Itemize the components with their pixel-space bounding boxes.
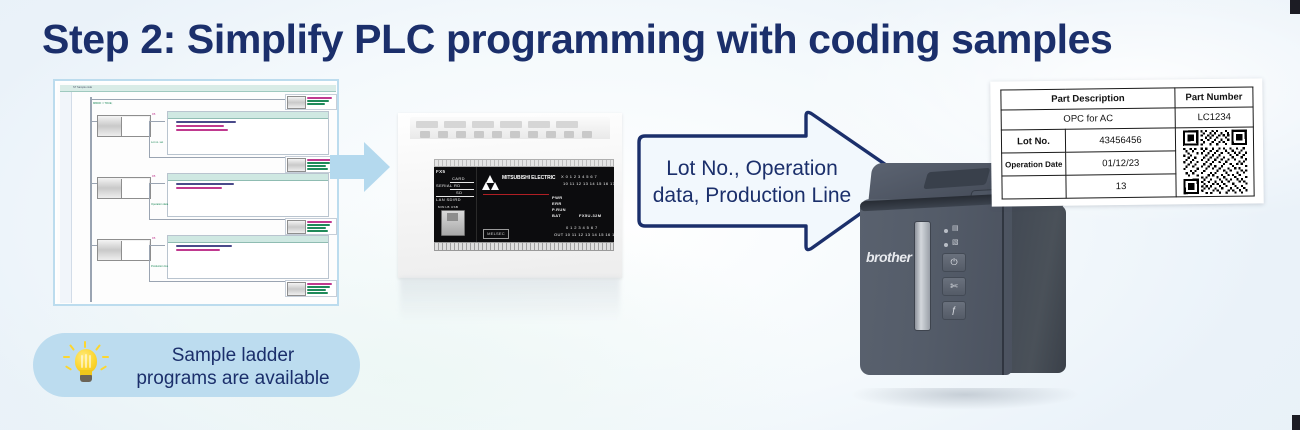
ladder-wire — [149, 183, 165, 184]
label-table: Part Description Part Number OPC for AC … — [1000, 86, 1254, 199]
ladder-function-block — [97, 177, 151, 199]
lot-no-value: 43456456 — [1065, 128, 1175, 152]
plc-vent-slot — [474, 131, 484, 138]
ladder-comment-label: Operation data — [151, 203, 168, 206]
plc-front-face: FX5 CARD SERIAL RD SD LAN SD/RD MINI-B U… — [434, 167, 614, 242]
status-indicator-led — [944, 243, 948, 247]
tape-indicator-icon: ▤ — [952, 225, 959, 233]
plc-led-pwr: PWR — [552, 195, 563, 200]
cut-button[interactable]: ✄ — [942, 277, 966, 296]
ladder-toolbar-strip — [60, 85, 336, 92]
corner-artifact-top-right — [1290, 0, 1300, 14]
plc-top-terminal-block — [434, 159, 614, 167]
ladder-wire — [149, 281, 285, 282]
plc-vent-slot — [416, 121, 438, 128]
ladder-wire — [149, 245, 150, 281]
ladder-line-number-gutter — [60, 92, 72, 303]
ladder-function-block — [287, 220, 306, 234]
ladder-note-line — [307, 292, 328, 294]
part-description-header: Part Description — [1001, 88, 1175, 110]
bulb-ray — [84, 341, 86, 348]
bulb-filament — [81, 355, 83, 368]
ladder-code-box — [167, 173, 329, 217]
callout-line1: Sample ladder — [119, 344, 347, 367]
data-flow-arrow-line2: data, Production Line — [652, 182, 852, 209]
ladder-coil-label: FB — [152, 175, 155, 178]
ladder-block-tag — [121, 117, 149, 136]
plc-red-accent-line — [483, 194, 549, 195]
status-indicator-icon: ▧ — [952, 239, 959, 247]
ladder-code-line — [176, 129, 228, 131]
ladder-note-line — [307, 286, 330, 288]
ladder-comment-label: Lot no. set — [151, 141, 163, 144]
ladder-note-line — [307, 165, 326, 167]
plc-serial-label: SERIAL RD — [436, 183, 461, 188]
ladder-code-line — [176, 183, 234, 185]
printer-right-side — [1004, 205, 1066, 373]
sample-ladder-callout: Sample ladder programs are available — [33, 333, 360, 397]
ladder-code-header — [168, 236, 328, 243]
plc-vent-slot — [500, 121, 522, 128]
ladder-function-block — [287, 96, 306, 109]
ladder-canvas: ST Sample code M8000 := TRUE; FB — [57, 83, 339, 306]
lot-no-label: Lot No. — [1001, 129, 1065, 153]
ladder-note-line — [307, 224, 330, 226]
bulb-ray — [69, 344, 75, 351]
plc-vent-slot — [564, 131, 574, 138]
ladder-title-label: ST Sample code — [73, 86, 92, 89]
plc-input-row-top: X 0 1 2 3 4 5 6 7 — [561, 174, 597, 179]
lightbulb-icon — [60, 341, 112, 389]
ladder-note-line — [307, 162, 330, 164]
ladder-wire — [149, 157, 285, 158]
printer-front-body — [860, 199, 1012, 375]
ladder-comment-label: M8000 := TRUE; — [93, 102, 112, 105]
ladder-code-line — [176, 121, 236, 123]
qr-code-cell — [1175, 127, 1254, 197]
ladder-note-line — [307, 168, 328, 170]
plc-led-bat: BAT — [552, 213, 561, 218]
plc-vent-slot — [420, 131, 430, 138]
extra-row-value: 13 — [1066, 174, 1176, 198]
data-flow-arrow-line1: Lot No., Operation — [652, 155, 852, 182]
ladder-function-block — [97, 239, 151, 261]
plc-vent-slot — [456, 131, 466, 138]
ladder-code-line — [176, 245, 232, 247]
plc-vent-slot — [510, 131, 520, 138]
bulb-base — [80, 375, 92, 382]
part-number-header: Part Number — [1175, 87, 1253, 108]
plc-vent-slot — [546, 131, 556, 138]
bulb-ray — [100, 365, 107, 370]
ladder-note-line — [307, 100, 329, 102]
printer-brand-logo: brother — [866, 249, 912, 265]
ladder-code-box — [167, 235, 329, 279]
corner-artifact-bottom-right — [1292, 415, 1300, 430]
ladder-note-line — [307, 289, 326, 291]
plc-output-row-bottom: OUT 10 11 12 13 14 15 16 17 — [554, 232, 617, 237]
ladder-note-line — [307, 227, 326, 229]
plc-vent-slot — [492, 131, 502, 138]
bulb-ray — [63, 356, 70, 358]
plc-vent-slot — [444, 121, 466, 128]
tape-indicator-led — [944, 229, 948, 233]
power-button[interactable]: ⏻ — [942, 253, 966, 272]
operation-date-label: Operation Date — [1002, 152, 1066, 176]
plc-vent-slot — [528, 121, 550, 128]
mitsubishi-logo-icon — [483, 175, 499, 189]
bulb-filament — [89, 355, 91, 368]
bulb-ray — [65, 365, 72, 370]
printer-tape-exit-slot — [914, 221, 931, 331]
plc-vent-slot — [582, 131, 592, 138]
plc-module-code: FX5U-32M — [579, 213, 602, 218]
ladder-wire — [149, 245, 165, 246]
part-number-value: LC1234 — [1175, 107, 1253, 128]
arrow-head — [364, 142, 390, 192]
bulb-ray — [102, 356, 109, 358]
ladder-note-line — [307, 283, 332, 285]
plc-left-panel: FX5 CARD SERIAL RD SD LAN SD/RD MINI-B U… — [434, 167, 477, 242]
printer-top-window — [923, 168, 990, 189]
bulb-filament — [85, 354, 87, 368]
plc-bottom-terminal-block — [434, 242, 614, 251]
callout-text: Sample ladder programs are available — [119, 344, 347, 390]
plc-lan-label: LAN SD/RD — [436, 197, 461, 202]
plc-vent-slot — [528, 131, 538, 138]
ladder-code-box — [167, 111, 329, 155]
ladder-wire — [149, 121, 150, 157]
ladder-function-block — [287, 158, 306, 172]
ladder-code-header — [168, 112, 328, 119]
callout-line2: programs are available — [119, 367, 347, 390]
plc-ethernet-port[interactable] — [441, 210, 465, 236]
operation-date-value: 01/12/23 — [1066, 151, 1176, 175]
slide-canvas: Step 2: Simplify PLC programming with co… — [0, 0, 1300, 430]
ladder-function-block — [287, 282, 306, 296]
ladder-code-line — [176, 249, 220, 251]
plc-series-label: FX5 — [436, 169, 445, 174]
ladder-coil-label: FB — [152, 237, 155, 240]
ladder-note-line — [307, 230, 328, 232]
qr-code-icon — [1182, 130, 1247, 195]
ladder-wire — [91, 121, 92, 173]
bulb-ray — [95, 344, 101, 351]
ladder-wire — [149, 121, 165, 122]
ladder-coil-label: FB — [152, 113, 155, 116]
extra-row-label — [1002, 175, 1066, 199]
ladder-note-line — [307, 159, 332, 161]
ladder-note-box — [285, 94, 337, 110]
printer-body-seam — [1002, 203, 1004, 375]
ladder-block-tag — [121, 241, 149, 260]
plc-input-row-bottom: 10 11 12 13 14 15 16 17 — [563, 181, 615, 186]
ladder-program-screenshot[interactable]: ST Sample code M8000 := TRUE; FB — [53, 79, 339, 306]
printed-label: Part Description Part Number OPC for AC … — [990, 78, 1264, 206]
ladder-wire — [149, 183, 150, 219]
plc-reflection — [400, 278, 620, 322]
plc-top-vent — [410, 117, 610, 139]
ladder-note-box — [285, 280, 337, 297]
arrow-shaft — [330, 155, 366, 179]
ladder-note-line — [307, 221, 332, 223]
mitsubishi-plc[interactable]: FX5 CARD SERIAL RD SD LAN SD/RD MINI-B U… — [398, 113, 622, 278]
ladder-to-plc-arrow — [330, 142, 392, 192]
plc-card-label: CARD — [452, 176, 465, 181]
plc-led-err: ERR — [552, 201, 562, 206]
ladder-note-line — [307, 97, 332, 99]
ladder-wire — [91, 183, 92, 283]
ladder-note-line — [307, 103, 325, 105]
data-flow-arrow-text: Lot No., Operation data, Production Line — [652, 155, 852, 209]
page-title: Step 2: Simplify PLC programming with co… — [42, 16, 1112, 63]
ladder-block-tag — [121, 179, 149, 198]
plc-led-prun: P.RUN — [552, 207, 566, 212]
ladder-wire — [91, 99, 291, 100]
ladder-code-line — [176, 187, 222, 189]
part-description-value: OPC for AC — [1001, 108, 1175, 130]
plc-brand-label: MITSUBISHI ELECTRIC — [502, 176, 555, 182]
plc-vent-slot — [438, 131, 448, 138]
ladder-comment-label: Production line — [151, 265, 168, 268]
plc-model-badge: MELSEC — [483, 229, 509, 239]
plc-vent-slot — [472, 121, 494, 128]
wireless-button[interactable]: ƒ — [942, 301, 966, 320]
table-row: Lot No. 43456456 — [1001, 127, 1253, 153]
plc-vent-slot — [556, 121, 578, 128]
ladder-code-line — [176, 125, 224, 127]
plc-output-row-top: 0 1 2 3 4 5 6 7 — [566, 225, 598, 230]
ladder-code-header — [168, 174, 328, 181]
plc-sd-label: SD — [456, 190, 462, 195]
ladder-wire — [149, 219, 285, 220]
printer-shadow — [850, 388, 1080, 410]
ladder-note-box — [285, 218, 337, 235]
ladder-function-block — [97, 115, 151, 137]
